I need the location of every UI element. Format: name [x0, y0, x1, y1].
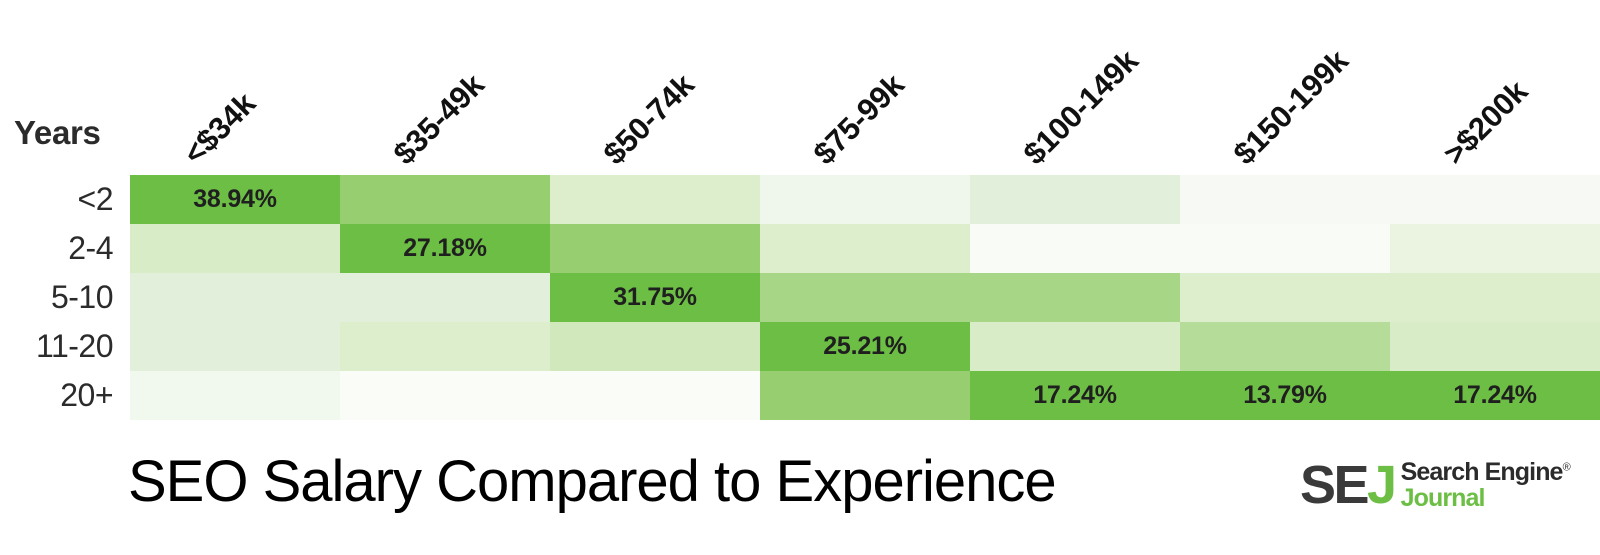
sej-logo-j: J	[1367, 455, 1395, 515]
heatmap-cell[interactable]	[970, 273, 1180, 322]
column-header-axis: <$34k$35-49k$50-74k$75-99k$100-149k$150-…	[0, 0, 1600, 172]
heatmap-cell[interactable]	[970, 224, 1180, 273]
heatmap-cell[interactable]	[340, 175, 550, 224]
heatmap-cell[interactable]	[550, 175, 760, 224]
heatmap-cell[interactable]: 17.24%	[1390, 371, 1600, 420]
heatmap-cell[interactable]	[1390, 175, 1600, 224]
column-header-3: $75-99k	[807, 67, 912, 172]
heatmap-cell[interactable]	[1390, 322, 1600, 371]
row-label-4: 20+	[0, 371, 122, 420]
heatmap-cell[interactable]	[970, 322, 1180, 371]
sej-logo-line1-text: Search Engine	[1401, 458, 1563, 486]
heatmap-cell[interactable]	[1180, 175, 1390, 224]
heatmap-cell[interactable]	[1180, 273, 1390, 322]
heatmap-cell[interactable]	[130, 224, 340, 273]
heatmap-cell-value: 25.21%	[823, 332, 907, 361]
heatmap-cell[interactable]	[550, 224, 760, 273]
sej-logo: SEJ Search Engine® Journal	[1300, 456, 1570, 514]
heatmap-cell-value: 17.24%	[1453, 381, 1537, 410]
heatmap-cell[interactable]	[550, 371, 760, 420]
heatmap-cell[interactable]	[1390, 224, 1600, 273]
heatmap-cell[interactable]: 25.21%	[760, 322, 970, 371]
column-header-6: >$200k	[1437, 74, 1535, 172]
heatmap-cell-value: 31.75%	[613, 283, 697, 312]
row-label-2: 5-10	[0, 273, 122, 322]
heatmap-figure: Years <$34k$35-49k$50-74k$75-99k$100-149…	[0, 0, 1600, 555]
row-label-0: <2	[0, 175, 122, 224]
heatmap-cell[interactable]	[130, 322, 340, 371]
column-header-0: <$34k	[177, 86, 263, 172]
heatmap-cell[interactable]	[970, 175, 1180, 224]
sej-logo-line1: Search Engine®	[1401, 460, 1570, 485]
sej-logo-se: SE	[1300, 455, 1367, 515]
row-label-axis: <22-45-1011-2020+	[0, 175, 122, 420]
heatmap-cell-value: 13.79%	[1243, 381, 1327, 410]
heatmap-cell[interactable]: 31.75%	[550, 273, 760, 322]
column-header-1: $35-49k	[387, 67, 492, 172]
sej-logo-wordmark: Search Engine® Journal	[1401, 460, 1570, 511]
row-label-3: 11-20	[0, 322, 122, 371]
chart-title: SEO Salary Compared to Experience	[128, 448, 1056, 515]
heatmap-cell[interactable]	[1180, 224, 1390, 273]
sej-logo-mark: SEJ	[1300, 458, 1395, 512]
heatmap-cell[interactable]: 17.24%	[970, 371, 1180, 420]
heatmap-cell[interactable]: 13.79%	[1180, 371, 1390, 420]
heatmap-cell[interactable]	[760, 175, 970, 224]
column-header-4: $100-149k	[1017, 43, 1146, 172]
heatmap-cell[interactable]	[550, 322, 760, 371]
row-label-1: 2-4	[0, 224, 122, 273]
heatmap-cell-value: 17.24%	[1033, 381, 1117, 410]
heatmap-cell[interactable]	[1180, 322, 1390, 371]
heatmap-cell[interactable]	[760, 371, 970, 420]
heatmap-cell[interactable]: 38.94%	[130, 175, 340, 224]
heatmap-cell[interactable]	[340, 273, 550, 322]
heatmap-cell[interactable]	[340, 371, 550, 420]
heatmap-cell[interactable]	[130, 371, 340, 420]
heatmap-cell[interactable]	[340, 322, 550, 371]
registered-mark-icon: ®	[1563, 461, 1570, 473]
heatmap-cell-value: 38.94%	[193, 185, 277, 214]
column-header-2: $50-74k	[597, 67, 702, 172]
heatmap-cell[interactable]	[760, 224, 970, 273]
heatmap-cell-value: 27.18%	[403, 234, 487, 263]
heatmap-cell[interactable]	[130, 273, 340, 322]
column-header-5: $150-199k	[1227, 43, 1356, 172]
heatmap-cell[interactable]	[760, 273, 970, 322]
heatmap-grid: 38.94%27.18%31.75%25.21%17.24%13.79%17.2…	[130, 175, 1600, 420]
heatmap-cell[interactable]: 27.18%	[340, 224, 550, 273]
heatmap-cell[interactable]	[1390, 273, 1600, 322]
sej-logo-line2: Journal	[1401, 486, 1570, 511]
